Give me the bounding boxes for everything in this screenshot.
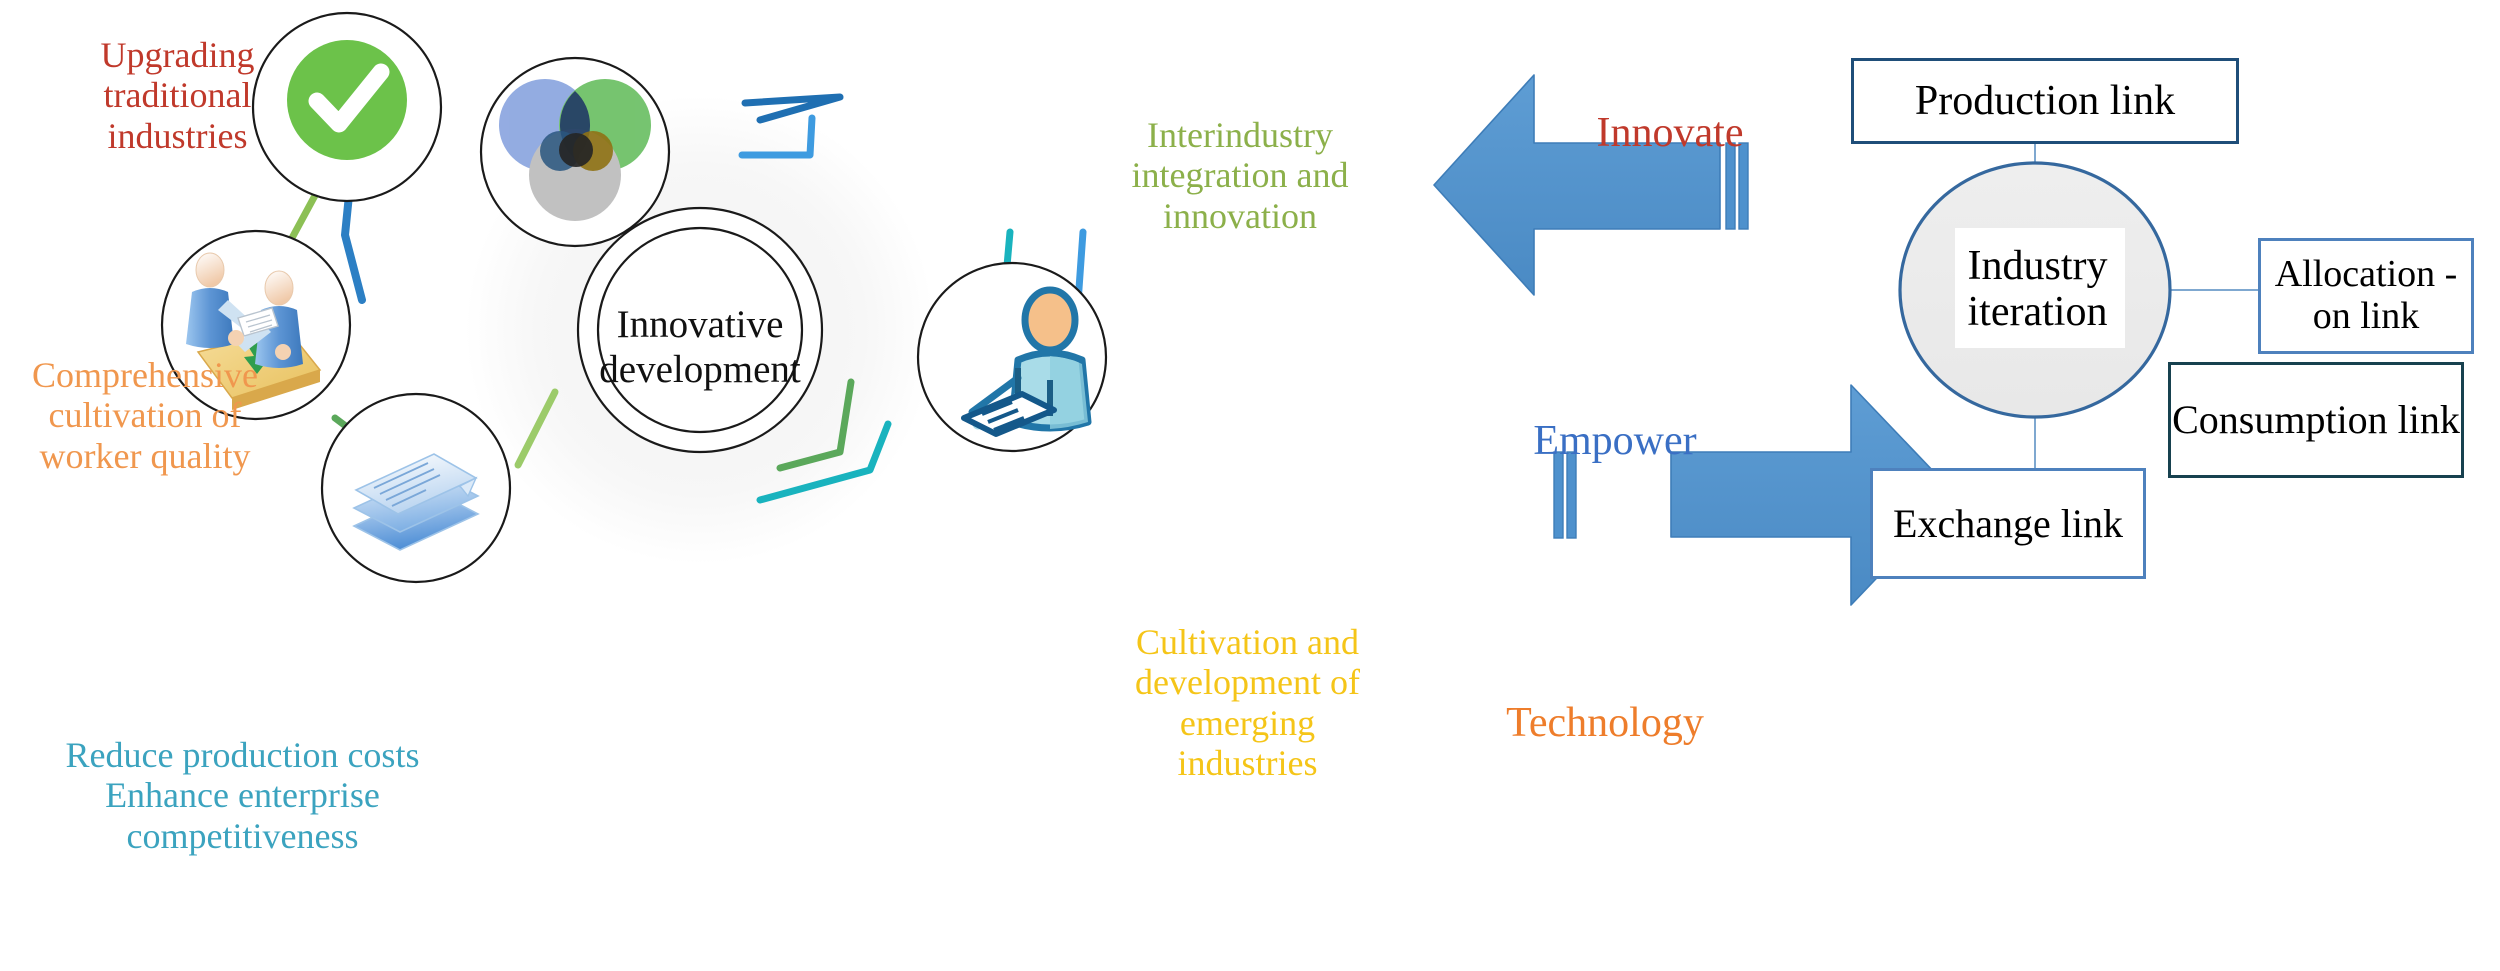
- label-comprehensive-worker-quality: Comprehensive cultivation of worker qual…: [0, 355, 295, 476]
- box-allocation-link[interactable]: Allocation -on link: [2258, 238, 2474, 354]
- label-empower: Empower: [1490, 418, 1740, 465]
- box-production-link[interactable]: Production link: [1851, 58, 2239, 144]
- label-reduce-production-costs: Reduce production costs Enhance enterpri…: [0, 735, 490, 856]
- node-emerging-industries[interactable]: [918, 263, 1106, 451]
- label-interindustry-integration: Interindustry integration and innovation: [1090, 115, 1390, 236]
- node-reduce-production-costs[interactable]: [322, 394, 510, 582]
- label-industry-iteration: Industry iteration: [1950, 230, 2125, 348]
- label-cultivation-emerging-industries: Cultivation and development of emerging …: [1100, 622, 1395, 783]
- innovate-arrow: [1434, 75, 1748, 295]
- label-upgrading-traditional-industries: Upgrading traditional industries: [55, 35, 300, 156]
- diagram-canvas: Upgrading traditional industries Interin…: [0, 0, 2500, 971]
- green-check-icon: [287, 40, 407, 160]
- label-technology: Technology: [1455, 700, 1755, 747]
- node-interindustry-integration[interactable]: [481, 58, 669, 246]
- label-innovate: Innovate: [1545, 110, 1795, 157]
- box-exchange-link[interactable]: Exchange link: [1870, 468, 2146, 579]
- hub-center-label: Innovative development: [578, 303, 822, 393]
- box-consumption-link[interactable]: Consumption link: [2168, 362, 2464, 478]
